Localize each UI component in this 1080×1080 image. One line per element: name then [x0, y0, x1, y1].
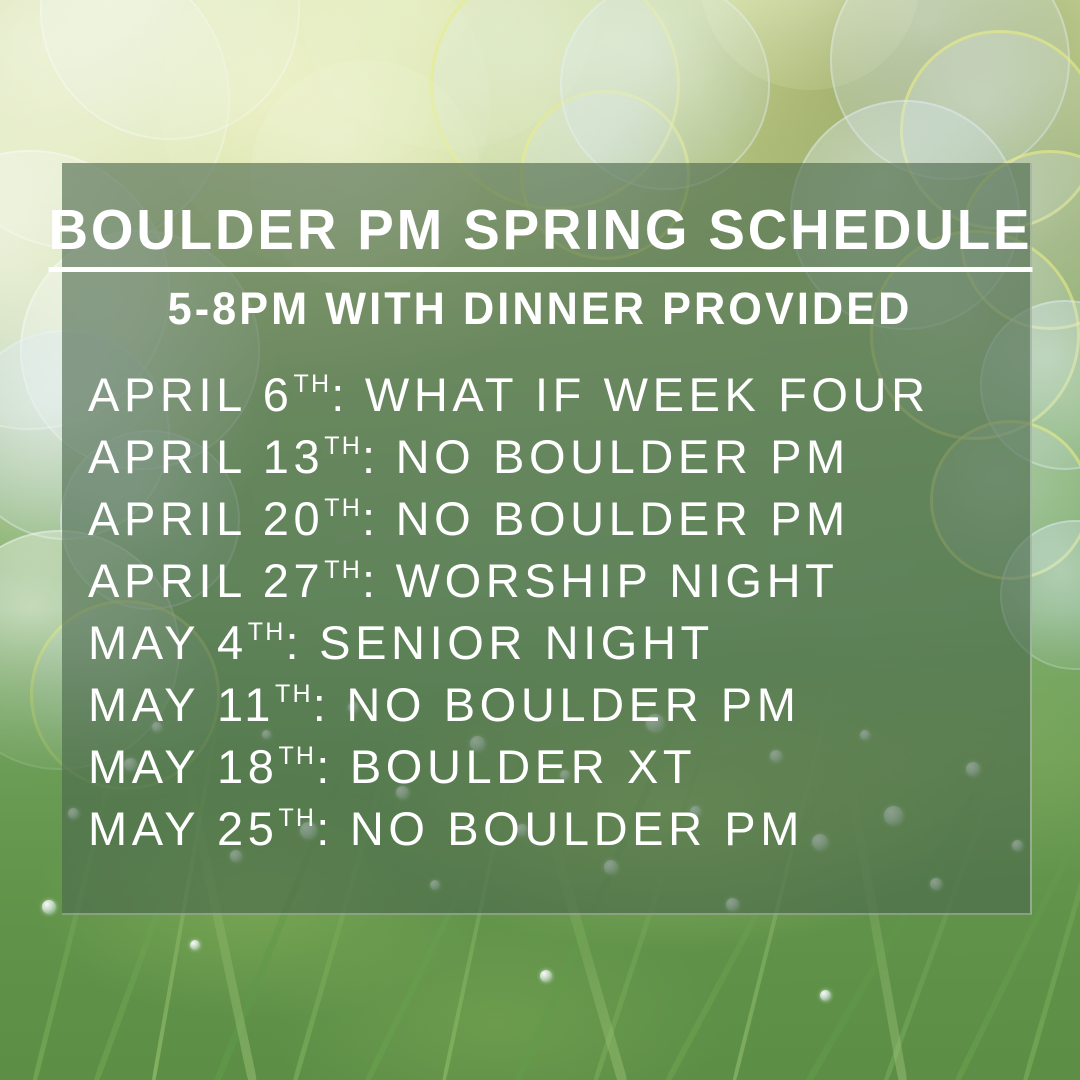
schedule-row: APRIL 20TH:NO BOULDER PM: [88, 495, 1048, 557]
schedule-row: MAY 25TH:NO BOULDER PM: [88, 805, 1048, 867]
schedule-day: 13: [245, 430, 324, 483]
schedule-separator: :: [362, 492, 380, 545]
schedule-event: NO BOULDER PM: [350, 805, 804, 852]
schedule-date: APRIL 13TH:: [88, 433, 380, 480]
title-block: BOULDER PM SPRING SCHEDULE 5-8PM WITH DI…: [0, 201, 1080, 333]
schedule-ordinal: TH: [294, 370, 332, 398]
schedule-event: NO BOULDER PM: [396, 433, 850, 480]
schedule-separator: :: [362, 430, 380, 483]
bokeh-circle: [300, 0, 600, 150]
bokeh-circle: [700, 0, 920, 90]
schedule-list: APRIL 6TH:WHAT IF WEEK FOURAPRIL 13TH:NO…: [88, 371, 1048, 867]
schedule-separator: :: [285, 616, 303, 669]
schedule-ordinal: TH: [324, 494, 362, 522]
schedule-separator: :: [331, 368, 349, 421]
schedule-day: 11: [199, 678, 275, 731]
schedule-event: WHAT IF WEEK FOUR: [365, 371, 930, 418]
schedule-row: APRIL 6TH:WHAT IF WEEK FOUR: [88, 371, 1048, 433]
schedule-row: MAY 18TH:BOULDER XT: [88, 743, 1048, 805]
dew-drop: [540, 970, 552, 982]
schedule-separator: :: [313, 678, 331, 731]
page-title: BOULDER PM SPRING SCHEDULE: [48, 201, 1032, 272]
schedule-date: APRIL 6TH:: [88, 371, 349, 418]
schedule-date: MAY 25TH:: [88, 805, 334, 852]
schedule-date: MAY 11TH:: [88, 681, 330, 728]
schedule-day: 18: [199, 740, 278, 793]
schedule-month: APRIL: [88, 554, 245, 607]
page-subtitle: 5-8PM WITH DINNER PROVIDED: [22, 285, 1059, 332]
schedule-ordinal: TH: [278, 742, 316, 770]
schedule-month: MAY: [88, 678, 199, 731]
schedule-ordinal: TH: [248, 618, 286, 646]
poster-graphic: BOULDER PM SPRING SCHEDULE 5-8PM WITH DI…: [0, 0, 1080, 1080]
poster-content: BOULDER PM SPRING SCHEDULE 5-8PM WITH DI…: [0, 163, 1080, 915]
schedule-date: MAY 18TH:: [88, 743, 334, 790]
schedule-row: APRIL 27TH:WORSHIP NIGHT: [88, 557, 1048, 619]
schedule-event: WORSHIP NIGHT: [396, 557, 839, 604]
schedule-ordinal: TH: [324, 432, 362, 460]
schedule-ordinal: TH: [275, 680, 313, 708]
schedule-day: 20: [245, 492, 324, 545]
schedule-separator: :: [362, 554, 380, 607]
dew-drop: [190, 940, 200, 950]
schedule-day: 25: [199, 802, 278, 855]
schedule-ordinal: TH: [324, 556, 362, 584]
dew-drop: [820, 990, 831, 1001]
schedule-event: BOULDER XT: [350, 743, 696, 790]
bokeh-circle: [560, 0, 770, 190]
schedule-month: APRIL: [88, 430, 245, 483]
schedule-event: NO BOULDER PM: [396, 495, 850, 542]
schedule-date: APRIL 20TH:: [88, 495, 380, 542]
schedule-separator: :: [316, 740, 334, 793]
schedule-day: 27: [245, 554, 324, 607]
schedule-event: SENIOR NIGHT: [319, 619, 714, 666]
schedule-month: MAY: [88, 616, 199, 669]
schedule-month: MAY: [88, 802, 199, 855]
schedule-date: APRIL 27TH:: [88, 557, 380, 604]
schedule-date: MAY 4TH:: [88, 619, 303, 666]
schedule-month: MAY: [88, 740, 199, 793]
schedule-month: APRIL: [88, 368, 245, 421]
schedule-day: 6: [245, 368, 293, 421]
bokeh-circle: [830, 0, 1070, 180]
schedule-event: NO BOULDER PM: [346, 681, 800, 728]
schedule-day: 4: [199, 616, 247, 669]
schedule-row: MAY 4TH:SENIOR NIGHT: [88, 619, 1048, 681]
schedule-row: APRIL 13TH:NO BOULDER PM: [88, 433, 1048, 495]
schedule-separator: :: [316, 802, 334, 855]
bokeh-circle: [40, 0, 300, 140]
schedule-month: APRIL: [88, 492, 245, 545]
schedule-row: MAY 11TH:NO BOULDER PM: [88, 681, 1048, 743]
schedule-ordinal: TH: [278, 804, 316, 832]
